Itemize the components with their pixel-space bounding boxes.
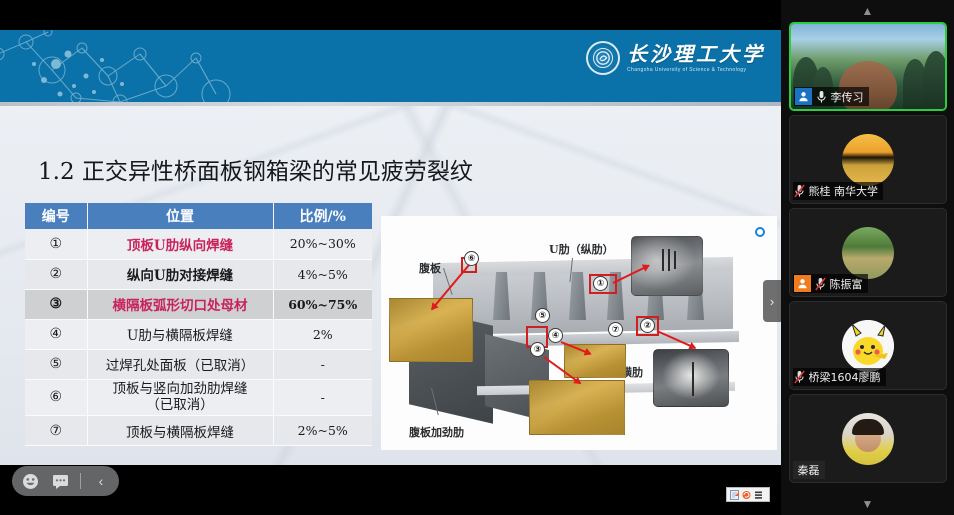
cell-ratio: 2%~5% [273, 416, 372, 446]
share-toolbar: ‹ [12, 466, 119, 496]
slide-header-band: 长沙理工大学 Changsha University of Science & … [0, 30, 781, 102]
marker-5: ⑤ [535, 308, 550, 323]
marker-4: ④ [548, 328, 563, 343]
label-web-stiffener: 腹板加劲肋 [409, 424, 464, 440]
detail-photo-3 [529, 380, 625, 435]
fatigue-crack-table: 编号 位置 比例/% ① 顶板U肋纵向焊缝 20%~30% ② 纵向U肋对接焊缝… [25, 203, 372, 446]
participant-name: 熊桂 南华大学 [809, 183, 879, 199]
participant-sidebar: ▲ [781, 0, 954, 515]
marker-6: ⑥ [464, 251, 479, 266]
cell-no: ⑦ [25, 416, 87, 446]
column-header-pos: 位置 [87, 203, 273, 229]
participant-tile[interactable]: 熊桂 南华大学 [789, 115, 947, 204]
participant-name-chip: 熊桂 南华大学 [793, 182, 884, 200]
university-logo: 长沙理工大学 Changsha University of Science & … [586, 41, 765, 75]
browser-icon[interactable] [742, 490, 751, 500]
scroll-up-button[interactable]: ▲ [781, 0, 954, 22]
cell-pos: 纵向U肋对接焊缝 [87, 259, 273, 289]
scenery-shape [923, 51, 947, 109]
cell-no: ③ [25, 289, 87, 319]
column-header-ratio: 比例/% [273, 203, 372, 229]
list-icon[interactable] [754, 490, 763, 500]
table-row: ⑥ 顶板与竖向加劲肋焊缝 （已取消） - [25, 379, 372, 416]
participant-name-chip: 李传习 [794, 87, 869, 106]
participant-name: 陈振富 [830, 276, 863, 292]
collapse-icon[interactable]: ‹ [91, 471, 111, 491]
microphone-icon [816, 90, 827, 104]
detail-photo-4 [564, 344, 626, 378]
microphone-muted-icon [815, 277, 826, 291]
participant-name-chip: 秦磊 [793, 461, 825, 479]
presentation-slide[interactable]: 长沙理工大学 Changsha University of Science & … [0, 30, 781, 465]
reaction-icon[interactable] [20, 471, 40, 491]
seal-glyph [592, 47, 614, 69]
detail-photo-2 [653, 349, 729, 407]
table-row: ① 顶板U肋纵向焊缝 20%~30% [25, 229, 372, 259]
participant-tile[interactable]: 桥梁1604廖鹏 [789, 301, 947, 390]
university-name-cn: 长沙理工大学 [627, 44, 765, 64]
marker-3: ③ [530, 342, 545, 357]
table-row: ⑦ 顶板与横隔板焊缝 2%~5% [25, 416, 372, 446]
column-header-no: 编号 [25, 203, 87, 229]
participant-avatar [842, 320, 894, 372]
cell-pos: 顶板与竖向加劲肋焊缝 （已取消） [87, 379, 273, 416]
participant-tile[interactable]: 秦磊 [789, 394, 947, 483]
participant-name-chip: 陈振富 [793, 274, 868, 293]
pikachu-avatar-glyph [842, 320, 894, 372]
chat-bubble-glyph [52, 474, 69, 489]
participant-avatar [842, 413, 894, 465]
next-slide-button[interactable]: › [763, 280, 781, 322]
table-row-highlighted: ③ 横隔板弧形切口处母材 60%~75% [25, 289, 372, 319]
participant-name-chip: 桥梁1604廖鹏 [793, 368, 886, 386]
host-badge-icon [795, 88, 812, 105]
microphone-muted-icon [794, 184, 805, 198]
marker-1: ① [593, 276, 608, 291]
notepad-icon[interactable] [730, 490, 739, 500]
table-row: ④ U肋与横隔板焊缝 2% [25, 319, 372, 349]
slide-title: 1.2 正交异性桥面板钢箱梁的常见疲劳裂纹 [38, 152, 473, 186]
marker-2: ② [640, 318, 655, 333]
shared-screen-stage: 长沙理工大学 Changsha University of Science & … [0, 0, 781, 515]
cell-ratio: 2% [273, 319, 372, 349]
cell-no: ① [25, 229, 87, 259]
university-seal-icon [586, 41, 620, 75]
cell-ratio: - [273, 349, 372, 379]
cell-no: ⑥ [25, 379, 87, 416]
system-tray [726, 487, 770, 502]
scroll-down-button[interactable]: ▼ [781, 493, 954, 515]
header-divider [0, 102, 781, 106]
cell-pos: 过焊孔处面板（已取消） [87, 349, 273, 379]
cell-no: ④ [25, 319, 87, 349]
microphone-muted-icon [794, 370, 805, 384]
participant-name: 桥梁1604廖鹏 [809, 369, 881, 385]
participant-avatar [842, 134, 894, 186]
participant-tile[interactable]: 陈振富 [789, 208, 947, 297]
cell-pos: U肋与横隔板焊缝 [87, 319, 273, 349]
annotation-dot-icon [755, 227, 765, 237]
crack-line [674, 251, 676, 269]
cell-ratio: 60%~75% [273, 289, 372, 319]
cell-no: ⑤ [25, 349, 87, 379]
participant-avatar [842, 227, 894, 279]
university-name-en: Changsha University of Science & Technol… [627, 68, 765, 73]
molecular-network-decoration [0, 30, 330, 102]
crack-line [692, 362, 694, 396]
participant-name: 李传习 [831, 89, 864, 105]
table-row: ② 纵向U肋对接焊缝 4%~5% [25, 259, 372, 289]
cell-ratio: 20%~30% [273, 229, 372, 259]
cell-no: ② [25, 259, 87, 289]
label-u-rib: U肋（纵肋） [549, 241, 614, 257]
cell-pos: 顶板与横隔板焊缝 [87, 416, 273, 446]
table-row: ⑤ 过焊孔处面板（已取消） - [25, 349, 372, 379]
person-glyph [798, 91, 809, 102]
cohost-badge-icon [794, 275, 811, 292]
smiley-glyph [22, 473, 39, 490]
cell-pos: 顶板U肋纵向焊缝 [87, 229, 273, 259]
cell-ratio: - [273, 379, 372, 416]
marker-7: ⑦ [608, 322, 623, 337]
cell-pos: 横隔板弧形切口处母材 [87, 289, 273, 319]
participant-tile-list: 李传习 熊桂 南华大学 [781, 22, 954, 493]
participant-name: 秦磊 [794, 462, 820, 478]
bridge-deck-diagram: 腹板 U肋（纵肋） 横肋 腹板加劲肋 [381, 216, 777, 450]
cell-ratio: 4%~5% [273, 259, 372, 289]
person-glyph [797, 278, 808, 289]
crack-line [662, 249, 664, 271]
crack-line [668, 249, 670, 271]
participant-tile[interactable]: 李传习 [789, 22, 947, 111]
toolbar-divider [80, 473, 81, 489]
chat-icon[interactable] [50, 471, 70, 491]
zoom-meeting-window: 长沙理工大学 Changsha University of Science & … [0, 0, 954, 515]
table-header-row: 编号 位置 比例/% [25, 203, 372, 229]
label-web: 腹板 [419, 260, 441, 276]
